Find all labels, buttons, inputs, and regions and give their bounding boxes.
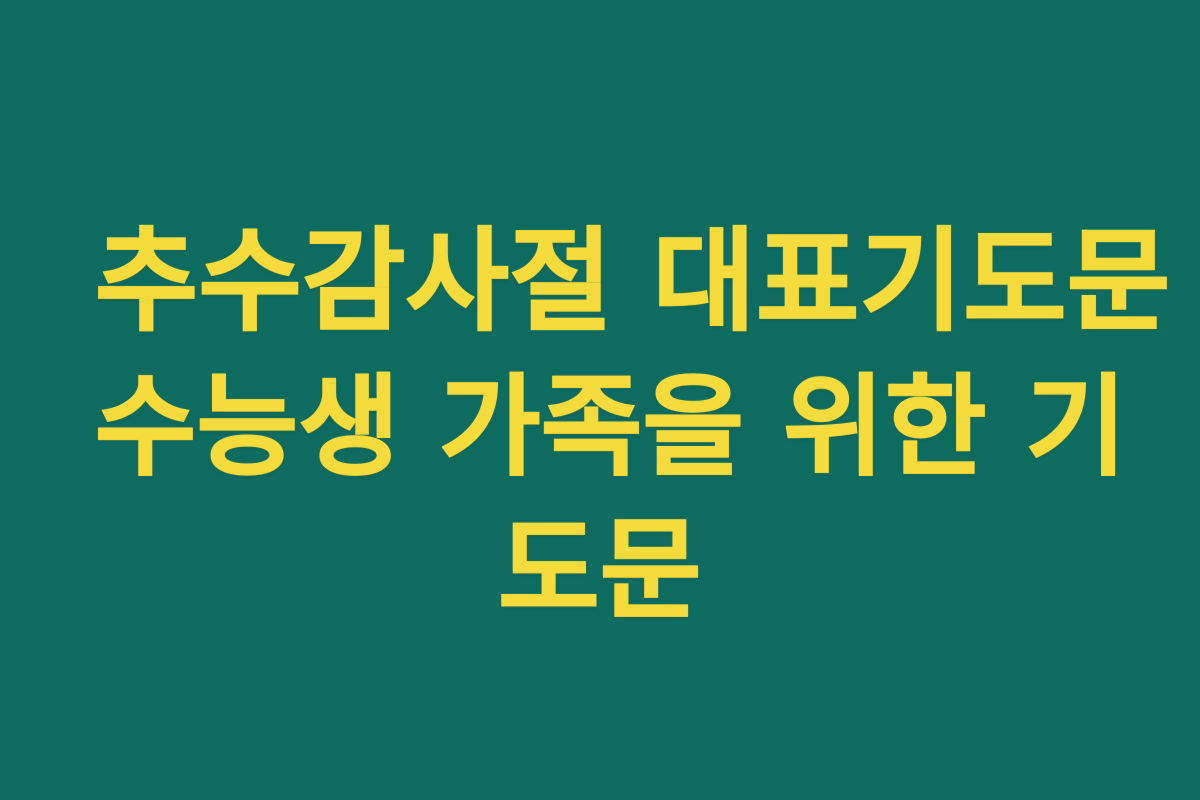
title-line-3: 도문	[95, 499, 1105, 642]
title-line-2: 수능생 가족을 위한 기	[95, 356, 1105, 499]
thumbnail-card: 추수감사절 대표기도문 수능생 가족을 위한 기 도문	[0, 0, 1200, 800]
title-line-1: 추수감사절 대표기도문	[95, 210, 1105, 356]
page-title: 추수감사절 대표기도문 수능생 가족을 위한 기 도문	[95, 210, 1105, 642]
